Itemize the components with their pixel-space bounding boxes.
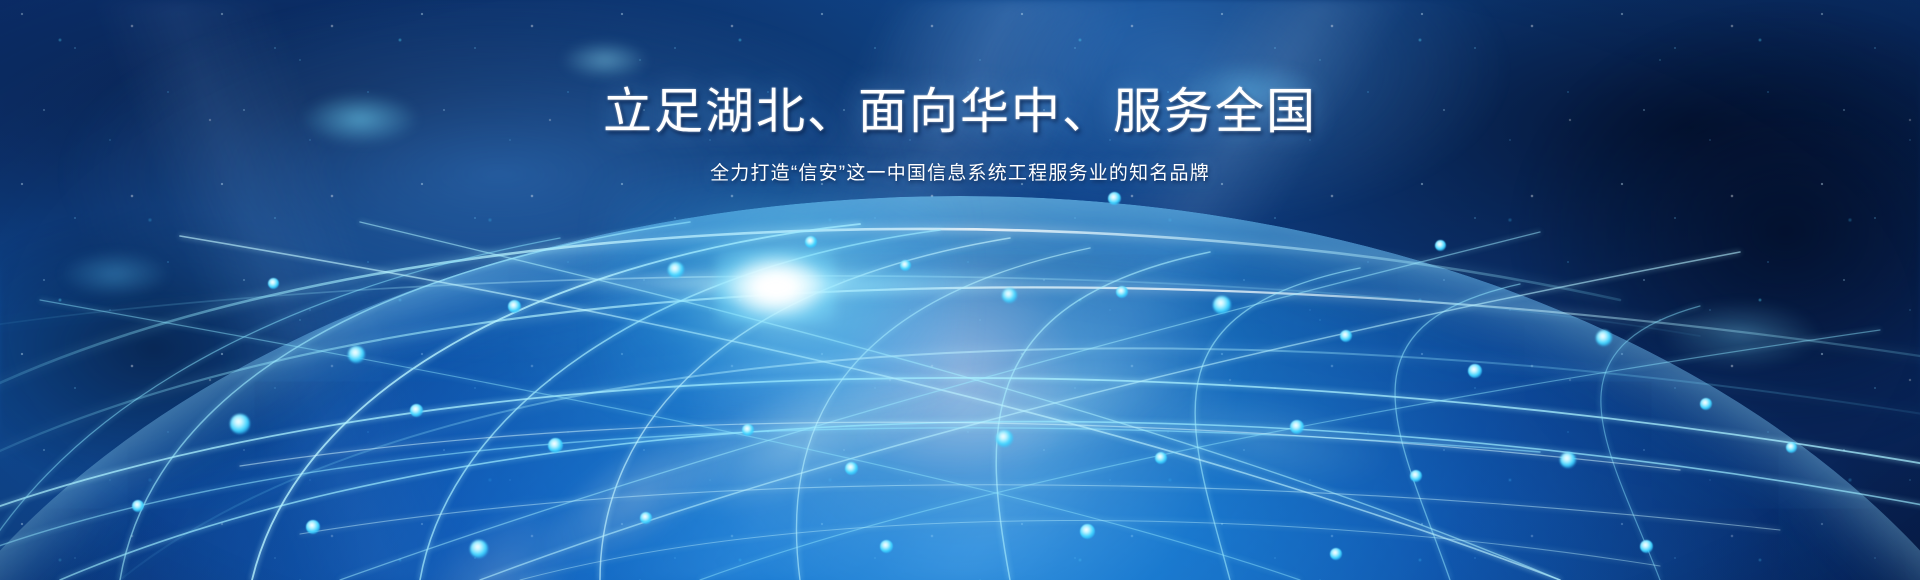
banner-headline: 立足湖北、面向华中、服务全国 xyxy=(0,84,1920,142)
flare-core xyxy=(716,250,836,324)
hero-banner: 立足湖北、面向华中、服务全国 全力打造“信安”这一中国信息系统工程服务业的知名品… xyxy=(0,0,1920,580)
banner-subheadline: 全力打造“信安”这一中国信息系统工程服务业的知名品牌 xyxy=(0,158,1920,185)
banner-copy: 立足湖北、面向华中、服务全国 全力打造“信安”这一中国信息系统工程服务业的知名品… xyxy=(0,84,1920,185)
